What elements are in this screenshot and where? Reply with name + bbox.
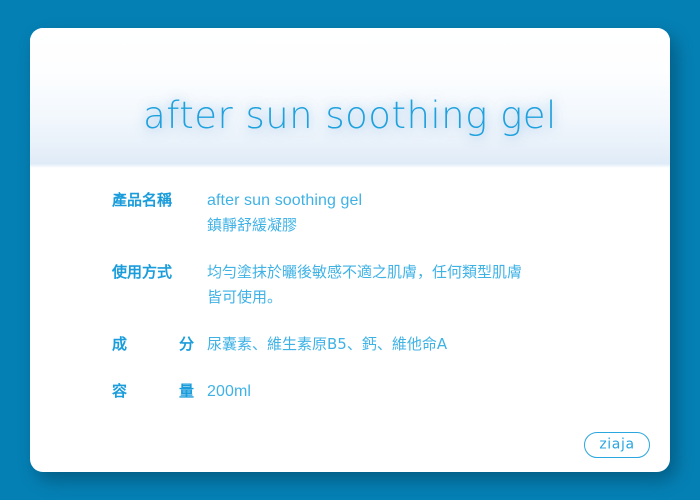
spec-row-ingredients: 成 分 尿囊素、維生素原B5、鈣、維他命A: [112, 332, 632, 357]
spec-value-ingredients: 尿囊素、維生素原B5、鈣、維他命A: [194, 332, 632, 357]
spec-value-usage: 均勻塗抹於曬後敏感不適之肌膚，任何類型肌膚 皆可使用。: [194, 260, 632, 310]
volume-text: 200ml: [207, 379, 632, 404]
ziaja-logo-text: ziaja: [599, 438, 634, 452]
spec-label-volume-char-2: 量: [179, 379, 194, 404]
spec-list: 產品名稱 after sun soothing gel 鎮靜舒緩凝膠 使用方式 …: [112, 188, 632, 404]
spec-label-volume-char-1: 容: [112, 379, 127, 404]
page-title: after sun soothing gel: [30, 94, 670, 137]
spec-label-ingredients-char-1: 成: [112, 332, 127, 357]
spec-label-ingredients-char-2: 分: [179, 332, 194, 357]
spec-value-volume: 200ml: [194, 379, 632, 404]
product-spec-card-page: after sun soothing gel 產品名稱 after sun so…: [0, 0, 700, 500]
usage-line-2: 皆可使用。: [207, 285, 632, 310]
spec-label-product-name: 產品名稱: [112, 188, 194, 213]
spec-label-volume: 容 量: [112, 379, 194, 404]
spec-label-usage: 使用方式: [112, 260, 194, 285]
spec-row-volume: 容 量 200ml: [112, 379, 632, 404]
product-name-cjk: 鎮靜舒緩凝膠: [207, 213, 632, 238]
ziaja-logo: ziaja: [584, 432, 650, 458]
spec-row-product-name: 產品名稱 after sun soothing gel 鎮靜舒緩凝膠: [112, 188, 632, 238]
product-card: after sun soothing gel 產品名稱 after sun so…: [30, 28, 670, 472]
spec-value-product-name: after sun soothing gel 鎮靜舒緩凝膠: [194, 188, 632, 238]
ingredients-text: 尿囊素、維生素原B5、鈣、維他命A: [207, 332, 632, 357]
spec-label-ingredients: 成 分: [112, 332, 194, 357]
product-name-latin: after sun soothing gel: [207, 188, 632, 213]
spec-row-usage: 使用方式 均勻塗抹於曬後敏感不適之肌膚，任何類型肌膚 皆可使用。: [112, 260, 632, 310]
usage-line-1: 均勻塗抹於曬後敏感不適之肌膚，任何類型肌膚: [207, 260, 632, 285]
